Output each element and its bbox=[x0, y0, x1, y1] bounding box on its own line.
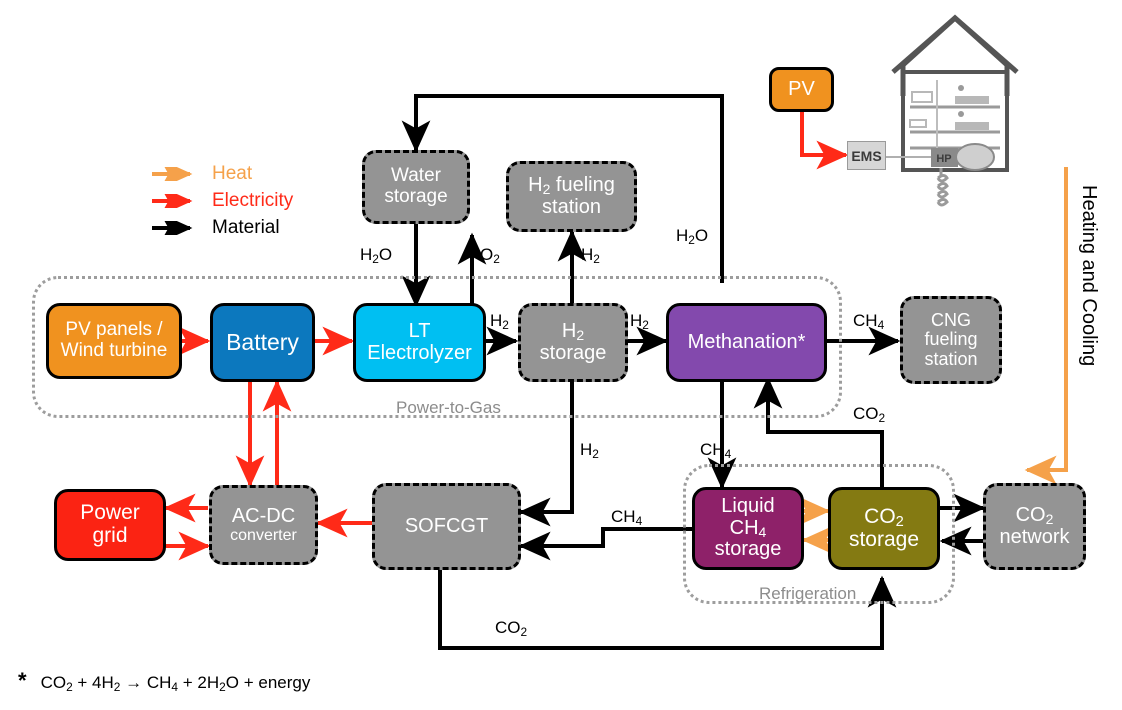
diagram-canvas: HP Power-to-Gas Refrigeration PV panels … bbox=[0, 0, 1122, 710]
power-grid-line1: Power bbox=[80, 501, 140, 524]
edge-label-h2-storage-methanation: H2 bbox=[630, 311, 649, 331]
h2-storage-line2: storage bbox=[540, 342, 607, 364]
heat-arrow-icon bbox=[150, 167, 202, 181]
node-battery[interactable]: Battery bbox=[210, 303, 315, 382]
node-power-grid[interactable]: Power grid bbox=[54, 489, 166, 561]
battery-label: Battery bbox=[222, 330, 303, 355]
cng-line3: station bbox=[924, 349, 977, 369]
edge-label-o2: O2 bbox=[480, 245, 500, 265]
edge-label-h2-electrolyzer-storage: H2 bbox=[490, 311, 509, 331]
heating-and-cooling-label: Heating and Cooling bbox=[1077, 185, 1100, 366]
lt-electrolyzer-line2: Electrolyzer bbox=[367, 342, 471, 364]
node-co2-storage[interactable]: CO2 storage bbox=[828, 487, 940, 570]
co2-storage-line2: storage bbox=[849, 528, 919, 551]
liquid-ch4-line1: Liquid bbox=[721, 495, 774, 517]
pv-panels-line2: Wind turbine bbox=[61, 340, 168, 361]
legend-item-electricity: Electricity bbox=[150, 187, 293, 214]
svg-text:HP: HP bbox=[936, 153, 951, 165]
node-co2-network[interactable]: CO2 network bbox=[983, 483, 1086, 570]
node-ems[interactable]: EMS bbox=[847, 141, 886, 170]
house-illustration: HP bbox=[878, 18, 1017, 205]
pv-panels-line1: PV panels / bbox=[65, 319, 162, 340]
legend-item-heat: Heat bbox=[150, 160, 293, 187]
co2-network-line1: CO2 bbox=[1016, 504, 1054, 526]
edge-label-h2o-water-storage: H2O bbox=[360, 245, 392, 265]
water-storage-line2: storage bbox=[384, 186, 447, 207]
footnote-star: * bbox=[18, 668, 27, 693]
edge-label-ch4-cng: CH4 bbox=[853, 311, 884, 331]
node-cng-fueling-station[interactable]: CNG fueling station bbox=[900, 296, 1002, 384]
legend: Heat Electricity Material bbox=[150, 160, 293, 241]
h2-fueling-line2: station bbox=[542, 196, 601, 218]
group-refrigeration-label: Refrigeration bbox=[759, 584, 856, 604]
edge-label-h2-fueling: H2 bbox=[581, 245, 600, 265]
edge-label-co2-storage-methanation: CO2 bbox=[853, 404, 885, 424]
material-arrow-icon bbox=[150, 221, 202, 235]
ac-dc-line1: AC-DC bbox=[232, 505, 295, 527]
co2-network-line2: network bbox=[999, 526, 1069, 548]
edge-label-h2-storage-sofcgt: H2 bbox=[580, 440, 599, 460]
node-methanation[interactable]: Methanation* bbox=[666, 303, 827, 382]
cng-line2: fueling bbox=[924, 329, 977, 349]
cng-line1: CNG bbox=[931, 310, 971, 330]
water-storage-line1: Water bbox=[391, 165, 441, 186]
pv-house-label: PV bbox=[784, 79, 819, 101]
ems-label: EMS bbox=[851, 148, 881, 164]
footnote-equation: CO2 + 4H2 → CH4 + 2H2O + energy bbox=[41, 673, 311, 692]
liquid-ch4-line2: CH4 bbox=[730, 517, 767, 539]
group-power-to-gas-label: Power-to-Gas bbox=[396, 398, 501, 418]
legend-label-electricity: Electricity bbox=[212, 190, 293, 212]
node-ac-dc-converter[interactable]: AC-DC converter bbox=[209, 485, 318, 565]
node-water-storage[interactable]: Water storage bbox=[362, 150, 470, 224]
h2-storage-line1: H2 bbox=[562, 320, 584, 342]
lt-electrolyzer-line1: LT bbox=[409, 320, 431, 342]
edge-label-ch4-liquid-sofcgt: CH4 bbox=[611, 507, 642, 527]
co2-storage-line1: CO2 bbox=[864, 505, 904, 528]
node-lt-electrolyzer[interactable]: LT Electrolyzer bbox=[353, 303, 486, 382]
liquid-ch4-line3: storage bbox=[715, 538, 782, 560]
edge-label-co2-sofcgt-storage: CO2 bbox=[495, 618, 527, 638]
node-h2-fueling-station[interactable]: H2 fueling station bbox=[506, 161, 637, 232]
legend-item-material: Material bbox=[150, 214, 293, 241]
methanation-label: Methanation* bbox=[684, 332, 810, 354]
electricity-arrow-icon bbox=[150, 194, 202, 208]
node-sofcgt[interactable]: SOFCGT bbox=[372, 483, 521, 570]
edge-label-h2o-methanation: H2O bbox=[676, 226, 708, 246]
node-pv-panels-wind-turbine[interactable]: PV panels / Wind turbine bbox=[46, 303, 182, 379]
legend-label-material: Material bbox=[212, 217, 280, 239]
h2-fueling-line1: H2 fueling bbox=[528, 174, 615, 196]
node-h2-storage[interactable]: H2 storage bbox=[518, 303, 628, 382]
node-pv-house[interactable]: PV bbox=[769, 67, 834, 112]
edge-label-ch4-methanation-liquid: CH4 bbox=[700, 440, 731, 460]
legend-label-heat: Heat bbox=[212, 163, 252, 185]
footnote: *CO2 + 4H2 → CH4 + 2H2O + energy bbox=[18, 668, 310, 694]
node-liquid-ch4-storage[interactable]: Liquid CH4 storage bbox=[692, 487, 804, 570]
ac-dc-line2: converter bbox=[230, 527, 297, 544]
power-grid-line2: grid bbox=[92, 524, 127, 547]
sofcgt-label: SOFCGT bbox=[401, 516, 492, 538]
